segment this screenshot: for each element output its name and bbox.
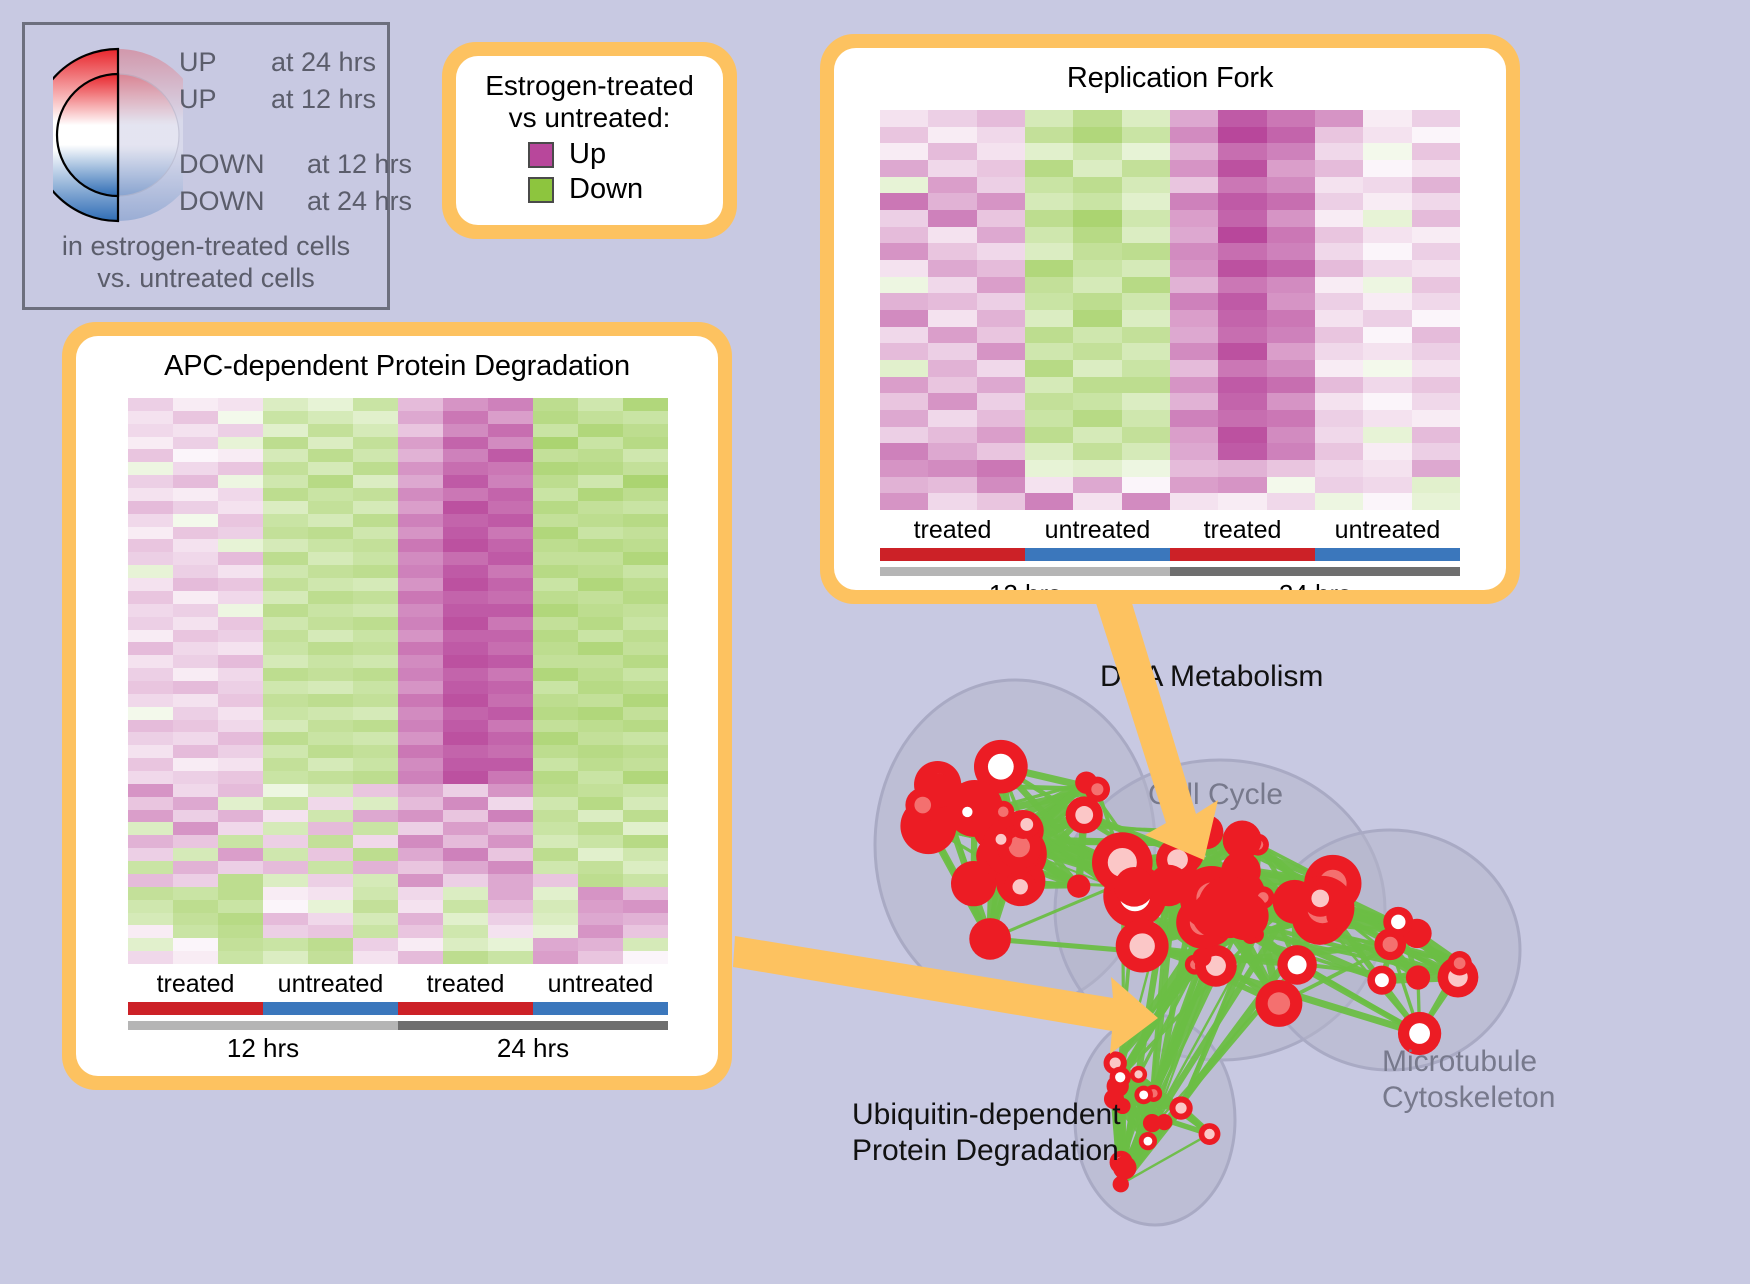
heatmap-cell [308,925,353,938]
heatmap-cell [1170,110,1218,127]
heatmap-cell [977,227,1025,244]
heatmap-cell [880,293,928,310]
heatmap-cell [623,527,668,540]
heatmap-cell [977,110,1025,127]
column-group-bar-apc [128,1002,668,1015]
network-node[interactable] [1113,1176,1129,1192]
heatmap-cell [1025,410,1073,427]
heatmap-cell [308,848,353,861]
heatmap-cell [443,565,488,578]
heatmap-cell [1170,277,1218,294]
heatmap-cell [173,771,218,784]
column-group-label: treated [398,970,533,999]
heatmap-cell [308,630,353,643]
heatmap-cell [308,732,353,745]
heatmap-cell [128,732,173,745]
heatmap-cell [308,835,353,848]
heatmap-cell [398,578,443,591]
heatmap-cell [533,539,578,552]
heatmap-cell [533,411,578,424]
heatmap-cell [1122,277,1170,294]
heatmap-cell [928,443,976,460]
heatmap-cell [353,552,398,565]
heatmap-cell [1315,160,1363,177]
heatmap-cell [578,848,623,861]
heatmap-cell [173,668,218,681]
network-node[interactable] [990,828,1013,851]
heatmap-cell [128,449,173,462]
heatmap-cell [1315,260,1363,277]
heatmap-cell [443,552,488,565]
heatmap-cell [488,681,533,694]
heatmap-cell [353,925,398,938]
heatmap-cell [173,848,218,861]
heatmap-cell [533,565,578,578]
heatmap-cell [443,681,488,694]
heatmap-cell [443,514,488,527]
heatmap-cell [263,707,308,720]
heatmap-cell [218,861,263,874]
network-node[interactable] [1383,907,1413,937]
heatmap-cell [353,437,398,450]
heatmap-cell [880,477,928,494]
heatmap-cell [578,707,623,720]
heatmap-cell [308,810,353,823]
heatmap-cell [488,565,533,578]
heatmap-cell [443,874,488,887]
network-node[interactable] [905,788,940,823]
heatmap-cell [880,343,928,360]
heatmap-cell [263,771,308,784]
heatmap-cell [398,552,443,565]
heatmap-cell [353,720,398,733]
heatmap-cell [578,449,623,462]
heatmap-cell [533,501,578,514]
heatmap-cell [1315,210,1363,227]
heatmap-cell [1363,327,1411,344]
heatmap-cell [1073,310,1121,327]
heatmap-cell [128,437,173,450]
heatmap-cell [1315,277,1363,294]
heatmap-cell [443,900,488,913]
heatmap-cell [578,913,623,926]
heatmap-cell [623,938,668,951]
heatmap-cell [128,835,173,848]
network-node[interactable] [1447,951,1471,975]
heatmap-cell [1363,293,1411,310]
heatmap-cell [353,668,398,681]
heatmap-cell [1315,310,1363,327]
heatmap-cell [173,758,218,771]
network-node[interactable] [1085,777,1110,802]
heatmap-cell [443,462,488,475]
heatmap-cell [928,327,976,344]
heatmap-cell [263,861,308,874]
heatmap-cell [1412,160,1460,177]
heatmap-cell [308,694,353,707]
heatmap-cell [1122,493,1170,510]
heatmap-cell [1025,227,1073,244]
heatmap-cell [880,260,928,277]
heatmap-cell [1218,360,1266,377]
heatmap-cell [443,784,488,797]
heatmap-cell [1170,460,1218,477]
heatmap-cell [218,797,263,810]
heatmap-cell [1315,227,1363,244]
heatmap-cell [173,604,218,617]
heatmap-cell [353,424,398,437]
heatmap-cell [1170,343,1218,360]
network-node[interactable] [1193,948,1212,967]
heatmap-cell [1073,493,1121,510]
heatmap-cell [128,578,173,591]
heatmap-cell [623,552,668,565]
heatmap-cell [353,694,398,707]
heatmap-cell [353,900,398,913]
heatmap-cell [1363,460,1411,477]
heatmap-cell [488,694,533,707]
network-node[interactable] [1134,1086,1153,1105]
heatmap-cell [1218,427,1266,444]
heatmap-cell [880,493,928,510]
heatmap-cell [398,617,443,630]
network-node[interactable] [1156,1114,1172,1130]
heatmap-cell [928,477,976,494]
heatmap-cell [218,449,263,462]
heatmap-cell [128,681,173,694]
heatmap-cell [1170,493,1218,510]
network-node[interactable] [1302,880,1339,917]
network-node[interactable] [1198,876,1260,938]
heatmap-cell [1412,177,1460,194]
heatmap-cell [1412,493,1460,510]
heatmap-cell [1412,143,1460,160]
heatmap-cell [1363,193,1411,210]
heatmap-cell [398,784,443,797]
heatmap-cell [533,604,578,617]
heatmap-cell [977,410,1025,427]
heatmap-cell [1315,360,1363,377]
heatmap-cell [353,449,398,462]
heatmap-cell [218,874,263,887]
network-node[interactable] [1367,966,1396,995]
heatmap-cell [1122,360,1170,377]
column-group-labels-replication-fork: treateduntreatedtreateduntreated [880,516,1460,545]
heatmap-cell [533,681,578,694]
network-node[interactable] [957,801,978,822]
heatmap-cell [173,938,218,951]
heatmap-cell [1122,177,1170,194]
network-node[interactable] [1169,1096,1192,1119]
heatmap-cell [880,310,928,327]
heatmap-cell [398,925,443,938]
heatmap-cell [1315,443,1363,460]
heatmap-cell [488,900,533,913]
heatmap-cell [263,720,308,733]
heatmap-cell [1025,443,1073,460]
heatmap-cell [1218,410,1266,427]
heatmap-cell [128,411,173,424]
heatmap-cell [218,630,263,643]
heatmap-cell [880,360,928,377]
heatmap-cell [353,565,398,578]
time-group-swatch [398,1021,668,1030]
heatmap-cell [1218,127,1266,144]
heatmap-cell [1122,327,1170,344]
heatmap-cell [1170,310,1218,327]
heatmap-cell [1170,427,1218,444]
heatmap-cell [1218,443,1266,460]
heatmap-cell [1412,243,1460,260]
heatmap-cell [488,925,533,938]
heatmap-cell [1025,377,1073,394]
legend-item-up: Up [528,138,723,171]
heatmap-cell [880,177,928,194]
heatmap-cell [398,887,443,900]
heatmap-cell [1363,127,1411,144]
heatmap-cell [128,745,173,758]
heatmap-cell [263,874,308,887]
heatmap-cell [1170,143,1218,160]
heatmap-cell [263,565,308,578]
network-node[interactable] [1199,1123,1221,1145]
heatmap-cell [398,810,443,823]
heatmap-cell [623,861,668,874]
heatmap-cell [578,784,623,797]
time-group-label: 24 hrs [398,1033,668,1064]
heatmap-cell [218,591,263,604]
heatmap-cell [263,668,308,681]
heatmap-cell [173,681,218,694]
heatmap-cell [173,539,218,552]
heatmap-cell [1267,260,1315,277]
heatmap-cell [263,449,308,462]
heatmap-cell [977,293,1025,310]
heatmap-cell [398,437,443,450]
heatmap-cell [880,277,928,294]
heatmap-cell [353,462,398,475]
heatmap-cell [398,424,443,437]
heatmap-cell [578,745,623,758]
heatmap-cell [173,913,218,926]
heatmap-cell [263,527,308,540]
cluster-label-microtubule: Microtubule [1382,1045,1537,1079]
heatmap-cell [1073,443,1121,460]
heatmap-cell [1267,243,1315,260]
heatmap-cell [533,797,578,810]
heatmap-cell [488,437,533,450]
heatmap-cell [488,501,533,514]
heatmap-cell [928,410,976,427]
heatmap-cell [977,143,1025,160]
heatmap-cell [1073,343,1121,360]
heatmap-cell [173,411,218,424]
heatmap-cell [623,630,668,643]
network-node[interactable] [1116,920,1169,973]
heatmap-cell [128,848,173,861]
heatmap-cell [977,393,1025,410]
heatmap-cell [218,539,263,552]
heatmap-cell [1122,227,1170,244]
heatmap-cell [1025,260,1073,277]
heatmap-cell [578,861,623,874]
column-group-swatch [1170,548,1315,561]
heatmap-cell [1170,377,1218,394]
heatmap-cell [623,437,668,450]
network-node[interactable] [1406,965,1430,989]
network-node[interactable] [1148,865,1189,906]
heatmap-cell [1122,110,1170,127]
cluster-label-dna-metabolism: DNA Metabolism [1100,660,1323,694]
heatmap-cell [928,360,976,377]
heatmap-cell [218,848,263,861]
heatmap-cell [263,398,308,411]
heatmap-cell [488,784,533,797]
heatmap-cell [977,427,1025,444]
network-node[interactable] [1013,811,1040,838]
heatmap-cell [443,951,488,964]
heatmap-cell [353,732,398,745]
network-node[interactable] [1066,796,1103,833]
heatmap-cell [1218,343,1266,360]
heatmap-cell [1073,160,1121,177]
heatmap-cell [488,745,533,758]
heatmap-cell [578,655,623,668]
heatmap-cell [263,745,308,758]
heatmap-cell [1267,210,1315,227]
heatmap-cell [308,784,353,797]
heatmap-cell [308,681,353,694]
network-node[interactable] [1277,945,1317,985]
network-node[interactable] [1130,1066,1147,1083]
heatmap-cell [488,822,533,835]
heatmap-cell [128,668,173,681]
heatmap-cell [218,642,263,655]
heatmap-cell [623,887,668,900]
heatmap-cell [533,822,578,835]
network-node[interactable] [1255,980,1302,1027]
column-group-swatch [1025,548,1170,561]
updown-legend-items: Up Down [528,138,723,206]
network-node[interactable] [1067,875,1090,898]
time-group-swatch [128,1021,398,1030]
heatmap-cell [353,874,398,887]
heatmap-cell [353,527,398,540]
heatmap-cell [1170,327,1218,344]
heatmap-cell [623,745,668,758]
heatmap-cell [128,938,173,951]
heatmap-cell [353,655,398,668]
heatmap-cell [1218,377,1266,394]
heatmap-cell [977,477,1025,494]
heatmap-cell [1218,460,1266,477]
heatmap-cell [1073,193,1121,210]
heatmap-cell [353,514,398,527]
network-node[interactable] [1004,871,1036,903]
heatmap-cell [1218,493,1266,510]
heatmap-cell [1412,427,1460,444]
heatmap-cell [623,514,668,527]
heatmap-cell [443,913,488,926]
heatmap-cell [533,810,578,823]
heatmap-cell [1315,343,1363,360]
heatmap-cell [928,227,976,244]
colorwheel-footer-line1: in estrogen-treated cells [25,231,387,263]
heatmap-cell [308,771,353,784]
heatmap-cell [353,810,398,823]
panel-title-replication-fork: Replication Fork [834,48,1506,95]
heatmap-cell [623,874,668,887]
heatmap-cell [308,617,353,630]
network-node[interactable] [1139,1132,1157,1150]
heatmap-cell [353,848,398,861]
heatmap-cell [263,925,308,938]
heatmap-cell [1412,127,1460,144]
heatmap-cell [1315,410,1363,427]
heatmap-cell [488,887,533,900]
heatmap-cell [128,720,173,733]
heatmap-cell [533,694,578,707]
heatmap-cell [977,260,1025,277]
heatmap-cell [1170,293,1218,310]
heatmap-cell [1267,427,1315,444]
heatmap-cell [533,462,578,475]
heatmap-cell [128,913,173,926]
heatmap-cell [128,874,173,887]
heatmap-cell [218,745,263,758]
time-group-bar-replication-fork [880,567,1460,576]
heatmap-cell [353,887,398,900]
heatmap-cell [263,681,308,694]
heatmap-cell [1412,443,1460,460]
heatmap-cell [398,732,443,745]
heatmap-cell [1073,410,1121,427]
column-group-label: treated [1170,516,1315,545]
heatmap-cell [218,732,263,745]
network-node[interactable] [969,918,1011,960]
heatmap-cell [488,617,533,630]
heatmap-cell [218,552,263,565]
heatmap-cell [173,514,218,527]
heatmap-cell [218,604,263,617]
heatmap-cell [623,797,668,810]
cluster-label-ubiquitin-dependent: Ubiquitin-dependent [852,1098,1121,1132]
heatmap-cell [928,177,976,194]
heatmap-cell [1363,110,1411,127]
heatmap-cell [443,668,488,681]
heatmap-cell [533,424,578,437]
heatmap-cell [1218,260,1266,277]
heatmap-cell [488,848,533,861]
heatmap-cell [928,377,976,394]
heatmap-cell [928,160,976,177]
heatmap-cell [623,835,668,848]
column-group-label: untreated [533,970,668,999]
heatmap-cell [623,539,668,552]
heatmap-cell [488,720,533,733]
heatmap-cell [1170,393,1218,410]
heatmap-cell [578,732,623,745]
heatmap-cell [1170,177,1218,194]
heatmap-cell [308,642,353,655]
cluster-label-protein-degradation: Protein Degradation [852,1134,1119,1168]
heatmap-cell [1218,243,1266,260]
heatmap-cell [533,617,578,630]
heatmap-cell [263,437,308,450]
heatmap-apc-degradation [128,398,668,964]
heatmap-cell [218,925,263,938]
network-node[interactable] [1110,1067,1131,1088]
